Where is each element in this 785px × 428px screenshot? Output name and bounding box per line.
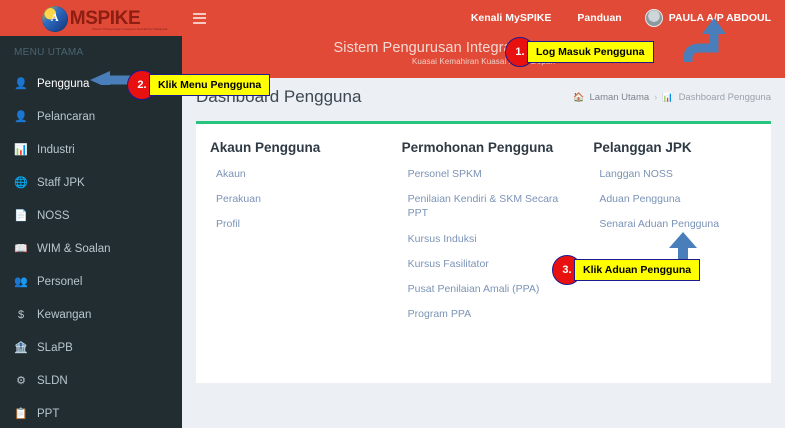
home-icon: 🏠 (573, 92, 584, 103)
link-list: Langgan NOSS Aduan Pengguna Senarai Adua… (593, 167, 757, 232)
file-icon: 📄 (14, 209, 28, 222)
link-program-ppa[interactable]: Program PPA (408, 307, 566, 321)
sidebar-item-label: Pengguna (37, 78, 89, 90)
id-card-icon: 📋 (14, 407, 28, 420)
book-icon: 📖 (14, 242, 28, 255)
breadcrumb-current: Dashboard Pengguna (679, 92, 771, 103)
dashboard-icon: 📊 (662, 92, 673, 103)
users-icon: 👥 (14, 275, 28, 288)
breadcrumb-home[interactable]: Laman Utama (590, 92, 650, 103)
page-header: Dashboard Pengguna 🏠 Laman Utama › 📊 Das… (182, 78, 785, 107)
annotation-2: 2. Klik Menu Pengguna (127, 70, 270, 100)
bank-icon: 🏦 (14, 341, 28, 354)
column-title: Akaun Pengguna (210, 140, 374, 155)
sidebar-item-label: PPT (37, 408, 59, 420)
app-root: MSPIKE Sistem Pengurusan Integrasi Kemah… (0, 0, 785, 428)
avatar-icon (645, 9, 663, 27)
sidebar-item-label: Kewangan (37, 309, 91, 321)
brand-tagline: Sistem Pengurusan Integrasi Kemahiran Ma… (92, 27, 168, 31)
annotation-text: Klik Aduan Pengguna (574, 259, 700, 281)
annotation-arrow-1 (684, 18, 740, 68)
link-penilaian-kendiri-skm-ppt[interactable]: Penilaian Kendiri & SKM Secara PPT (408, 192, 566, 220)
nav-link-kenali-myspike[interactable]: Kenali MySPIKE (458, 0, 565, 36)
annotation-1: 1. Log Masuk Pengguna (505, 37, 654, 67)
column-akaun-pengguna: Akaun Pengguna Akaun Perakuan Profil (196, 140, 388, 373)
annotation-3: 3. Klik Aduan Pengguna (552, 255, 700, 285)
link-personel-spkm[interactable]: Personel SPKM (408, 167, 566, 181)
sidebar-item-label: WIM & Soalan (37, 243, 111, 255)
sidebar-item-label: SLaPB (37, 342, 73, 354)
link-perakuan[interactable]: Perakuan (216, 192, 374, 206)
sidebar-item-pelancaran[interactable]: 👤 Pelancaran (0, 100, 182, 133)
column-permohonan-pengguna: Permohonan Pengguna Personel SPKM Penila… (388, 140, 580, 373)
link-kursus-fasilitator[interactable]: Kursus Fasilitator (408, 257, 566, 271)
sidebar-item-slapb[interactable]: 🏦 SLaPB (0, 331, 182, 364)
sidebar-item-noss[interactable]: 📄 NOSS (0, 199, 182, 232)
nav-link-panduan[interactable]: Panduan (564, 0, 634, 36)
breadcrumb: 🏠 Laman Utama › 📊 Dashboard Pengguna (573, 87, 771, 103)
annotation-text: Log Masuk Pengguna (527, 41, 654, 63)
sidebar-item-label: SLDN (37, 375, 68, 387)
sidebar-item-wim-soalan[interactable]: 📖 WIM & Soalan (0, 232, 182, 265)
globe-icon: 🌐 (14, 176, 28, 189)
user-icon: 👤 (14, 77, 28, 90)
sidebar-section-label: MENU UTAMA (0, 36, 182, 67)
link-profil[interactable]: Profil (216, 217, 374, 231)
link-pusat-penilaian-amali[interactable]: Pusat Penilaian Amali (PPA) (408, 282, 566, 296)
link-list: Akaun Perakuan Profil (210, 167, 374, 232)
column-title: Permohonan Pengguna (402, 140, 566, 155)
breadcrumb-separator: › (654, 92, 657, 103)
link-senarai-aduan-pengguna[interactable]: Senarai Aduan Pengguna (599, 217, 757, 231)
user-icon: 👤 (14, 110, 28, 123)
sidebar-item-kewangan[interactable]: $ Kewangan (0, 298, 182, 331)
sidebar-item-label: Industri (37, 144, 75, 156)
annotation-text: Klik Menu Pengguna (149, 74, 270, 96)
link-kursus-induksi[interactable]: Kursus Induksi (408, 232, 566, 246)
sidebar-item-label: Staff JPK (37, 177, 85, 189)
sidebar-item-label: Pelancaran (37, 111, 95, 123)
sidebar-item-personel[interactable]: 👥 Personel (0, 265, 182, 298)
chart-bar-icon: 📊 (14, 143, 28, 156)
link-list: Personel SPKM Penilaian Kendiri & SKM Se… (402, 167, 566, 321)
sidebar-item-label: Personel (37, 276, 82, 288)
hamburger-icon[interactable] (182, 0, 216, 36)
sidebar-item-staff-jpk[interactable]: 🌐 Staff JPK (0, 166, 182, 199)
column-title: Pelanggan JPK (593, 140, 757, 155)
sidebar-item-ppt[interactable]: 📋 PPT (0, 397, 182, 428)
sidebar-item-sldn[interactable]: ⚙ SLDN (0, 364, 182, 397)
brand-logo[interactable]: MSPIKE Sistem Pengurusan Integrasi Kemah… (0, 0, 182, 36)
network-icon: ⚙ (14, 374, 28, 387)
sidebar-item-label: NOSS (37, 210, 70, 222)
sidebar: MSPIKE Sistem Pengurusan Integrasi Kemah… (0, 0, 182, 428)
link-aduan-pengguna[interactable]: Aduan Pengguna (599, 192, 757, 206)
dollar-icon: $ (14, 309, 28, 321)
link-akaun[interactable]: Akaun (216, 167, 374, 181)
link-langgan-noss[interactable]: Langgan NOSS (599, 167, 757, 181)
globe-logo-icon (42, 6, 68, 32)
sidebar-item-industri[interactable]: 📊 Industri (0, 133, 182, 166)
